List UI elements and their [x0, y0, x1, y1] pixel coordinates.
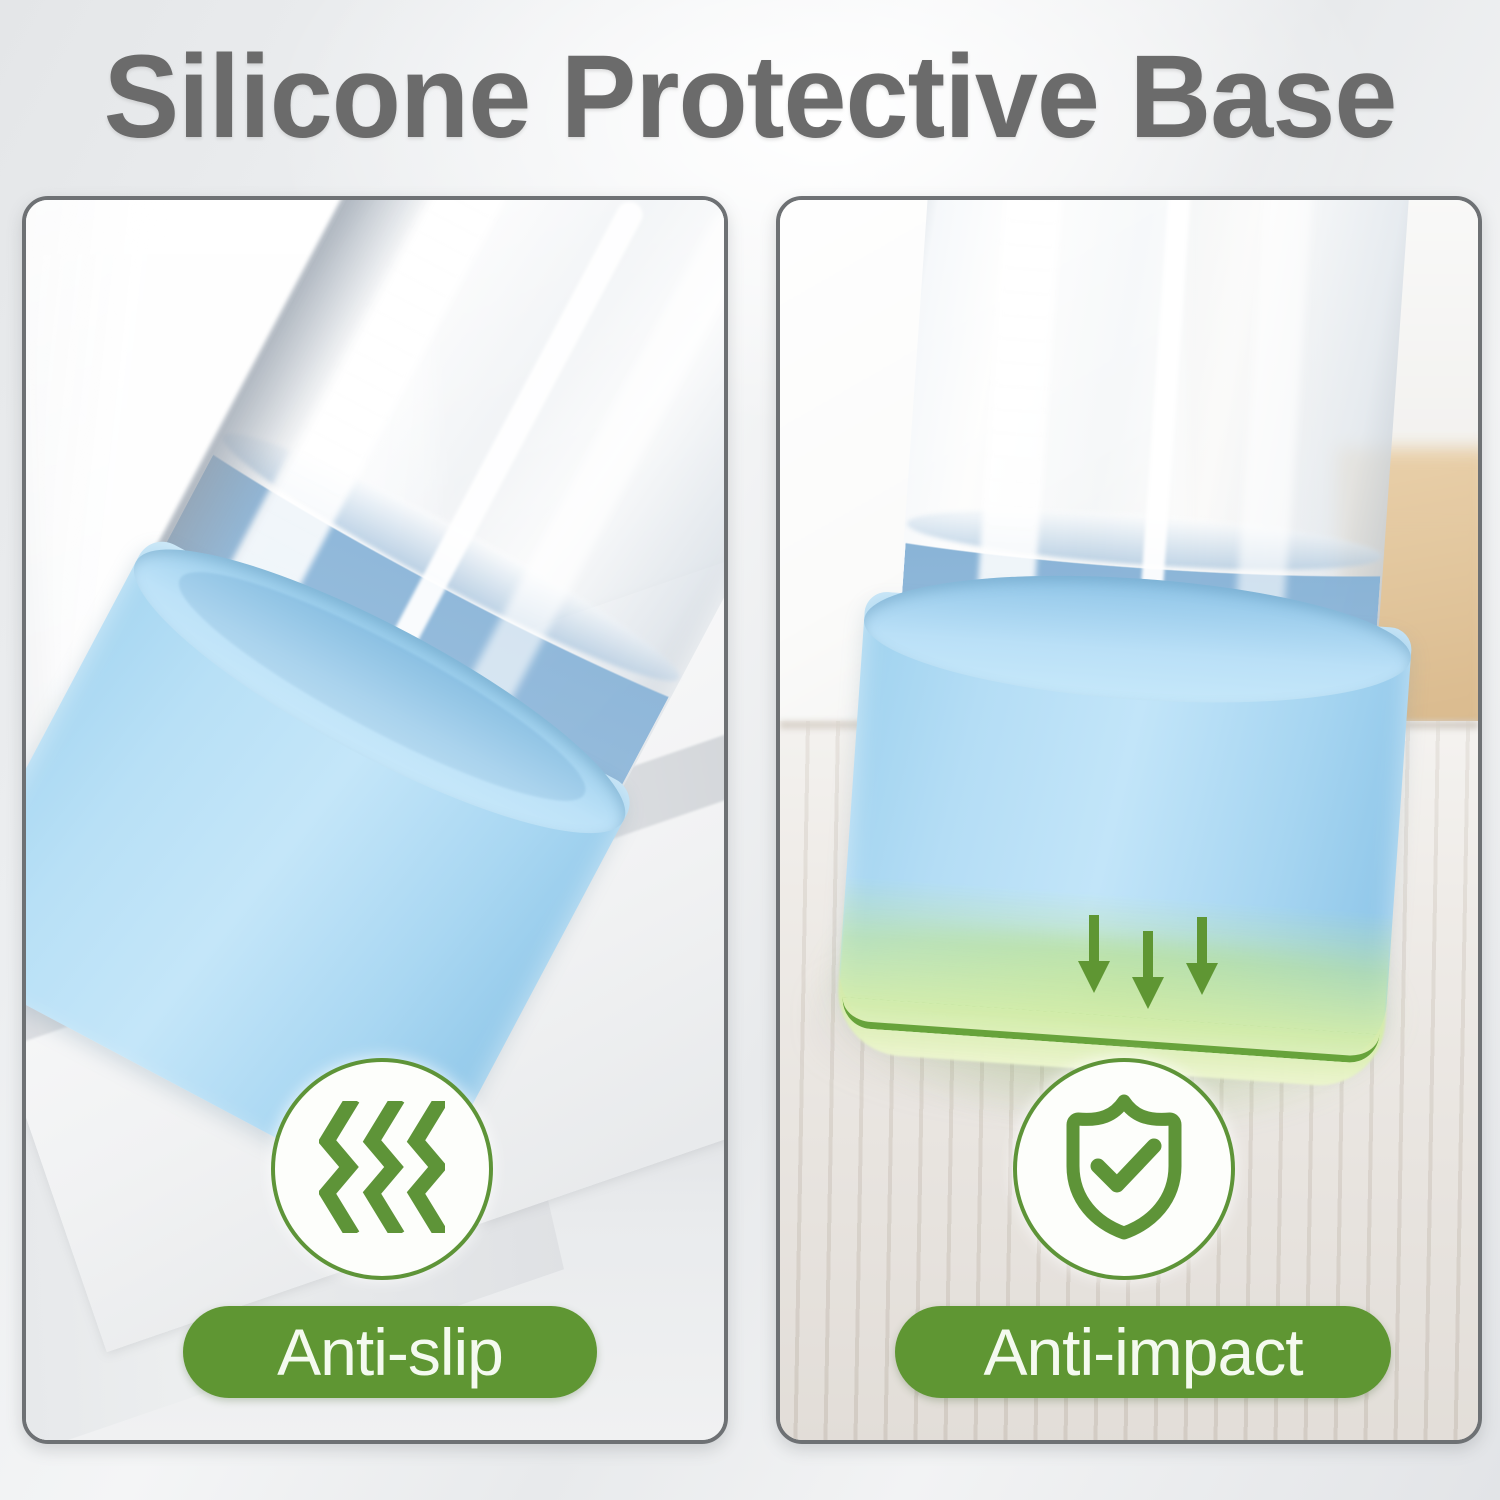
impact-arrow-group — [1078, 915, 1218, 997]
down-arrow-icon — [1078, 915, 1110, 993]
shield-check-icon — [1056, 1094, 1192, 1245]
page-title: Silicone Protective Base — [30, 38, 1470, 156]
badge-label-text: Anti-impact — [983, 1319, 1302, 1385]
badge-icon-circle — [271, 1058, 493, 1280]
badge-label-text: Anti-slip — [277, 1319, 503, 1385]
down-arrow-icon — [1186, 917, 1218, 995]
down-arrow-icon — [1132, 931, 1164, 1009]
badge-label-pill: Anti-impact — [895, 1306, 1391, 1398]
badge-label-pill: Anti-slip — [183, 1306, 597, 1398]
badge-icon-circle — [1013, 1058, 1235, 1280]
feature-badge-anti-slip: Anti-slip — [183, 1058, 597, 1398]
feature-badge-anti-impact: Anti-impact — [895, 1058, 1391, 1398]
wave-lines-icon — [319, 1101, 445, 1238]
